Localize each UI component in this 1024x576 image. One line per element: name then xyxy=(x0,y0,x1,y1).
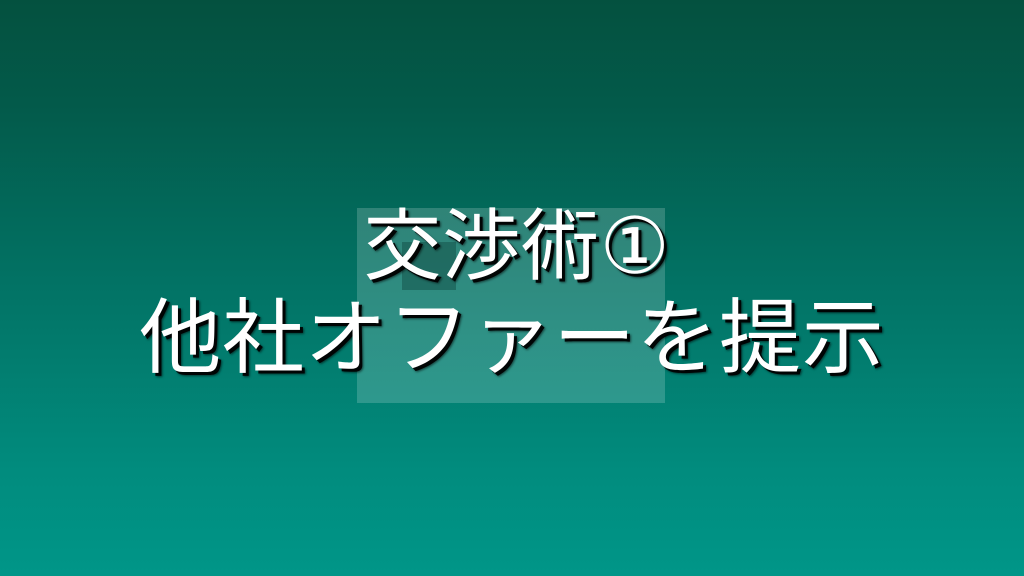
title-line-primary: 交渉術① xyxy=(363,208,670,286)
translucent-panel xyxy=(357,208,665,403)
dark-square-accent xyxy=(402,242,456,290)
title-line-secondary: 他社オファーを提示 xyxy=(139,298,884,380)
slide-canvas: 交渉術① 他社オファーを提示 xyxy=(0,0,1024,576)
title-block: 交渉術① 他社オファーを提示 xyxy=(0,0,1024,576)
